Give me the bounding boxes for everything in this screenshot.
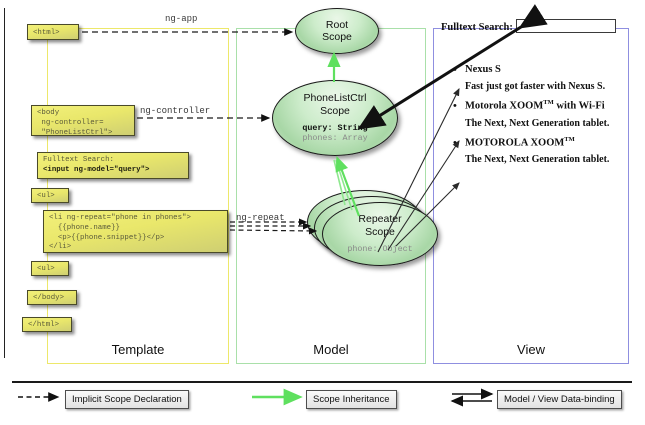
- view-search-input[interactable]: [516, 19, 616, 33]
- view-search-label: Fulltext Search:: [441, 22, 513, 33]
- outer-frame-line: [4, 8, 5, 358]
- legend-model-view-data-binding: Model / View Data-binding: [497, 390, 622, 409]
- trademark-icon: TM: [543, 99, 553, 106]
- scope-root-line1: Root: [326, 19, 348, 31]
- view-item-suffix: with Wi-Fi: [554, 101, 605, 112]
- scope-root: Root Scope: [295, 8, 379, 54]
- scope-repeater-prop-phone: phone: Object: [347, 245, 412, 255]
- arrow-label-ng-controller: ng-controller: [140, 106, 210, 116]
- panel-view-label: View: [434, 342, 628, 357]
- view-item-snippet: The Next, Next Generation tablet.: [452, 116, 624, 133]
- code-box-html-close: </html>: [22, 317, 72, 332]
- view-phone-list: Nexus S Fast just got faster with Nexus …: [452, 62, 624, 172]
- arrow-label-ng-repeat: ng-repeat: [236, 213, 285, 223]
- list-item: MOTOROLA XOOMTM The Next, Next Generatio…: [452, 135, 624, 169]
- scope-ctrl-line2: Scope: [320, 105, 350, 117]
- panel-template-label: Template: [48, 342, 228, 357]
- scope-ctrl-prop-phones: phones: Array: [302, 134, 367, 144]
- scope-repeater: Repeater Scope phone: Object: [322, 202, 438, 266]
- panel-template: Template: [47, 28, 229, 364]
- scope-ctrl-line1: PhoneListCtrl: [303, 92, 366, 104]
- legend-scope-inheritance: Scope Inheritance: [306, 390, 397, 409]
- code-box-ul-close: <ul>: [31, 261, 69, 276]
- view-item-name: MOTOROLA XOOMTM: [452, 135, 624, 152]
- code-box-html-open: <html>: [27, 24, 79, 40]
- code-li-line3: <p>{{phone.snippet}}</p>: [49, 234, 164, 242]
- code-li-line1: <li ng-repeat="phone in phones">: [49, 214, 191, 222]
- code-li-line2: {{phone.name}}: [49, 224, 120, 232]
- view-item-name-text: Motorola XOOM: [465, 101, 543, 112]
- code-box-body-open: <body ng-controller= "PhoneListCtrl">: [31, 105, 135, 136]
- legend-divider: [12, 381, 632, 383]
- view-item-name: Nexus S: [452, 62, 624, 79]
- scope-repeater-line2: Scope: [365, 226, 395, 238]
- view-item-snippet: The Next, Next Generation tablet.: [452, 152, 624, 169]
- list-item: Nexus S Fast just got faster with Nexus …: [452, 62, 624, 95]
- view-item-name: Motorola XOOMTM with Wi-Fi: [452, 98, 624, 115]
- view-item-snippet: Fast just got faster with Nexus S.: [452, 79, 624, 96]
- code-box-li-repeat: <li ng-repeat="phone in phones"> {{phone…: [43, 210, 228, 253]
- scope-phonelistctrl: PhoneListCtrl Scope query: String phones…: [272, 80, 398, 156]
- scope-repeater-line1: Repeater: [358, 213, 401, 225]
- code-box-ul-open: <ul>: [31, 188, 69, 203]
- code-box-body-close: </body>: [27, 290, 77, 305]
- scope-root-line2: Scope: [322, 31, 352, 43]
- view-item-name-text: MOTOROLA XOOM: [465, 138, 564, 149]
- panel-model-label: Model: [237, 342, 425, 357]
- arrow-label-ng-app: ng-app: [165, 14, 197, 24]
- code-search-label: Fulltext Search:: [43, 156, 114, 164]
- angularjs-concepts-diagram: Template Model View <html> <body ng-cont…: [0, 0, 645, 425]
- code-li-line4: </li>: [49, 243, 71, 251]
- code-search-input-text: <input ng-model="query">: [43, 166, 149, 174]
- legend-implicit-scope-declaration: Implicit Scope Declaration: [65, 390, 189, 409]
- trademark-icon: TM: [564, 136, 574, 143]
- list-item: Motorola XOOMTM with Wi-Fi The Next, Nex…: [452, 98, 624, 132]
- code-box-search-input: Fulltext Search: <input ng-model="query"…: [37, 152, 189, 179]
- view-item-name-text: Nexus S: [465, 64, 501, 75]
